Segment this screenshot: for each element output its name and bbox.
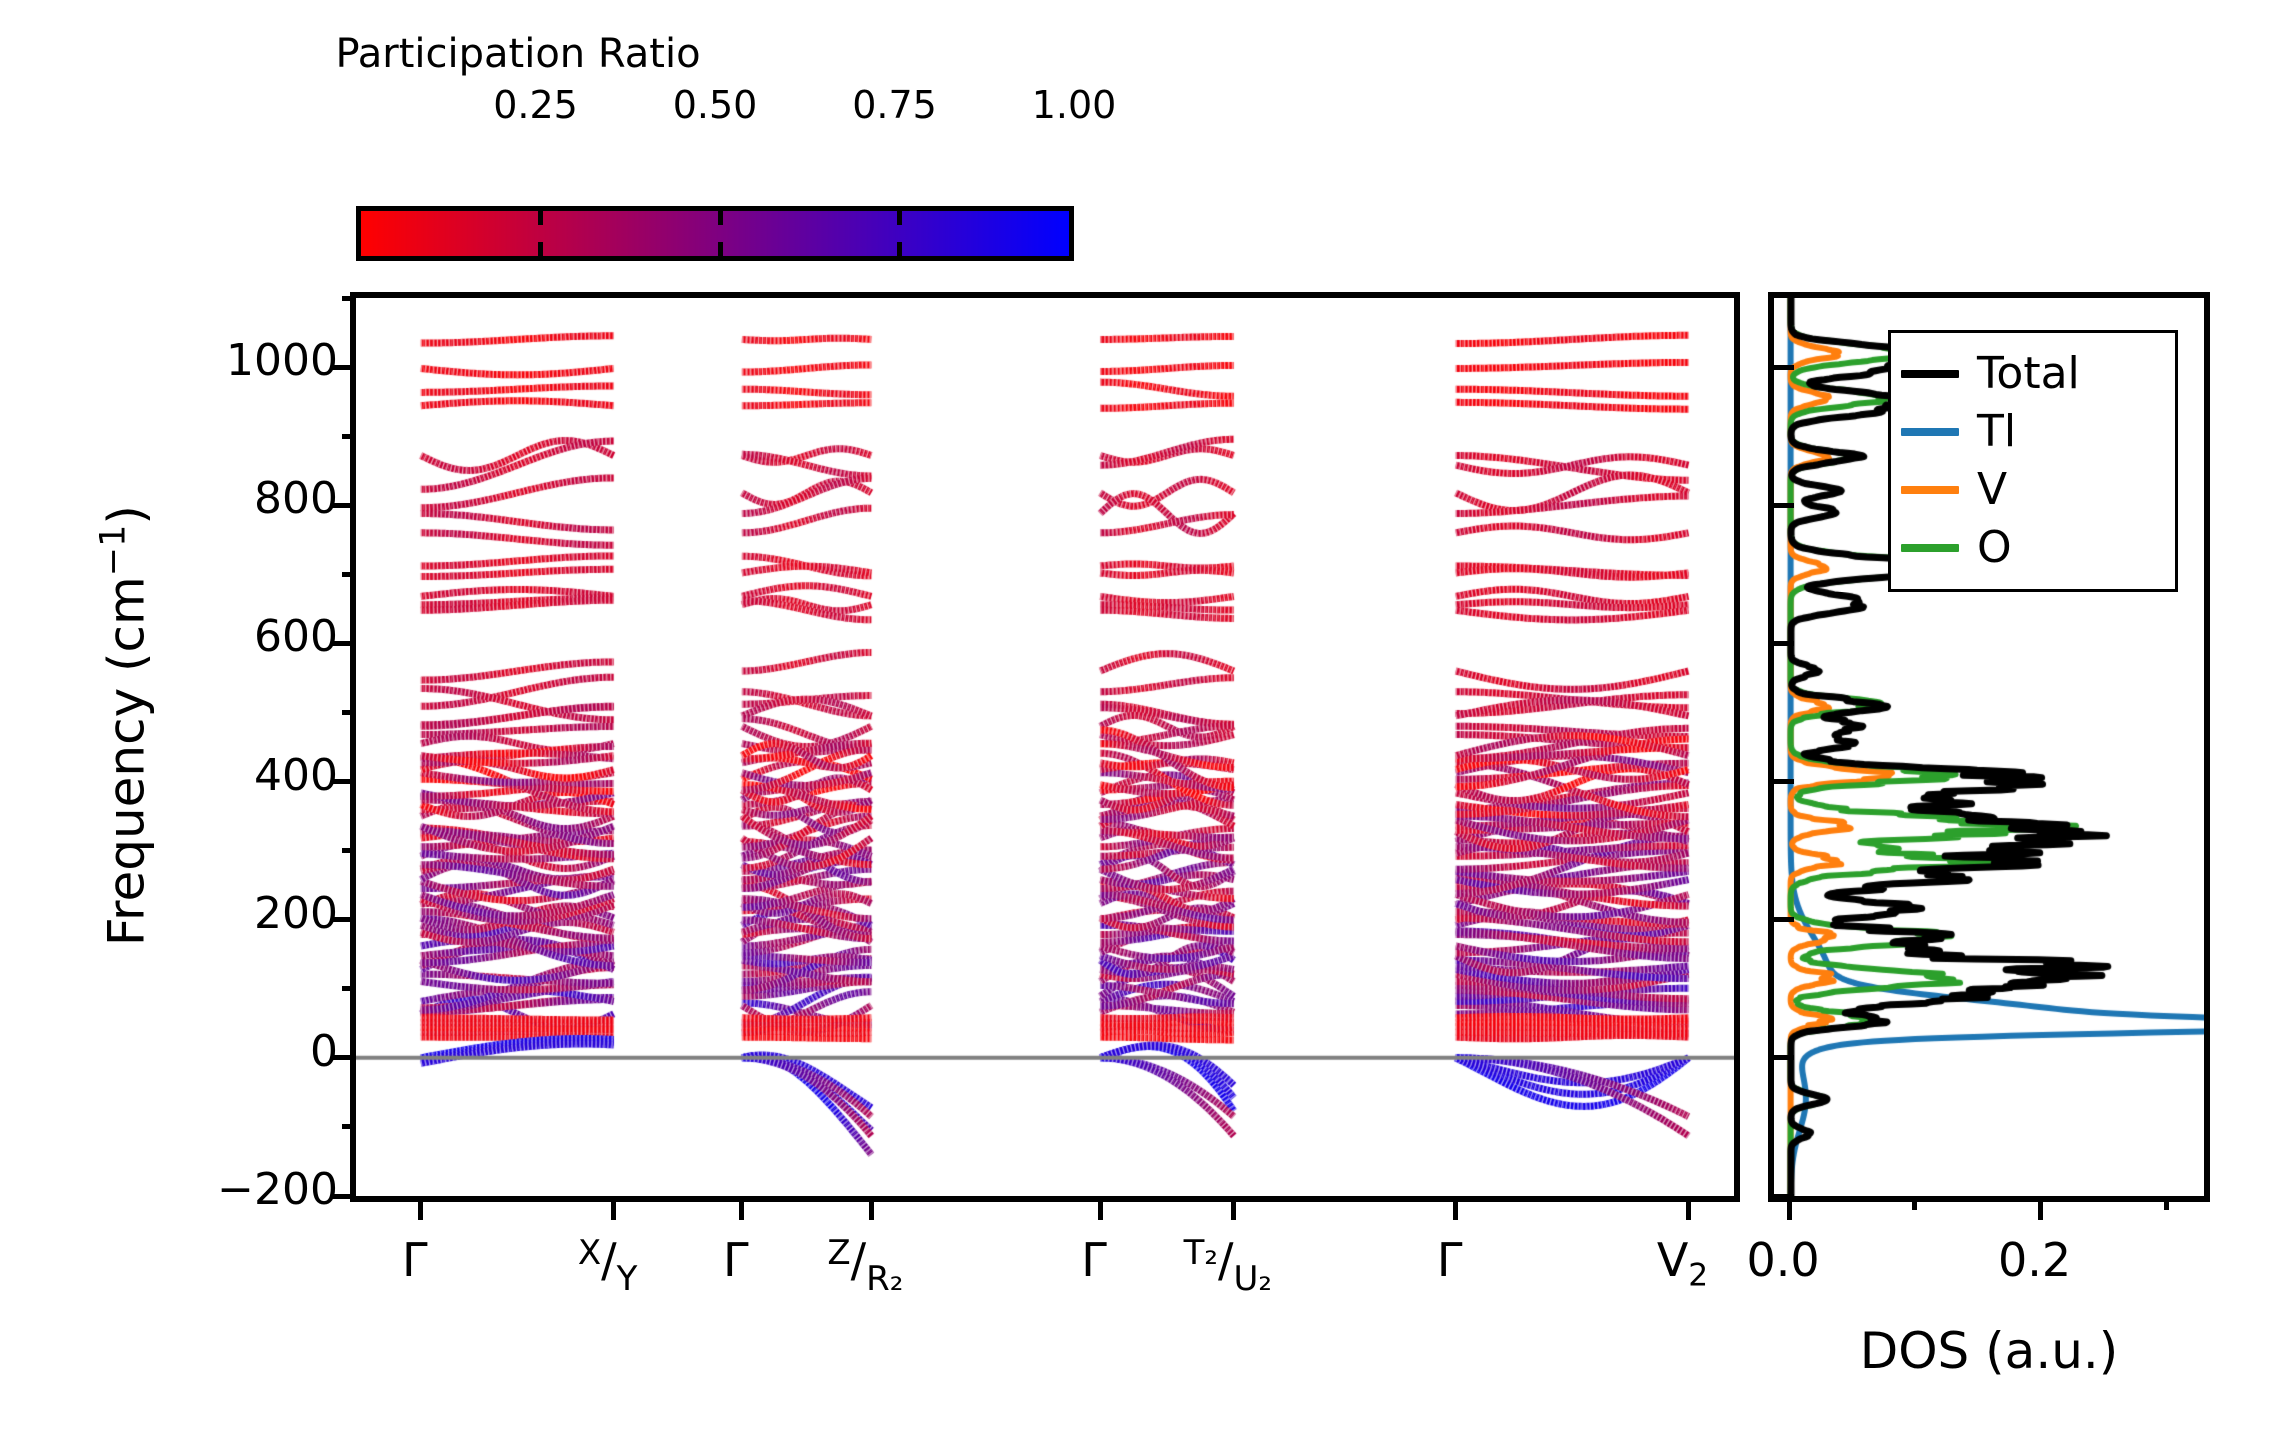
legend-entry: V [1901, 461, 2165, 519]
dos-frequency-tick [1774, 365, 1794, 370]
kpath-tick-label: Z/R₂ [827, 1232, 903, 1293]
legend-line-swatch [1901, 428, 1959, 436]
colorbar-tick-label: 1.00 [1032, 82, 1117, 128]
dos-axis-tick-labels: 0.00.2 [1768, 1232, 2210, 1302]
colorbar-tick [718, 211, 723, 225]
legend-entry: Total [1901, 345, 2165, 403]
legend-entry: O [1901, 519, 2165, 577]
dos-tick-label: 0.0 [1747, 1232, 1820, 1288]
kpath-tick-label: Γ [1081, 1232, 1107, 1288]
kpath-tick [869, 1196, 874, 1220]
frequency-tick-label: 0 [310, 1026, 338, 1078]
kpath-tick [1098, 1196, 1103, 1220]
frequency-minor-tick [342, 848, 356, 853]
kpath-tick-label: Γ [1437, 1232, 1463, 1288]
legend-entry: Tl [1901, 403, 2165, 461]
frequency-minor-tick [342, 572, 356, 577]
kpath-tick [611, 1196, 616, 1220]
frequency-unit-exponent: −1 [93, 525, 133, 577]
legend-line-swatch [1901, 370, 1959, 378]
frequency-tick-label: 400 [254, 750, 338, 802]
dos-legend: TotalTlVO [1888, 330, 2178, 592]
kpath-tick [418, 1196, 423, 1220]
kpath-tick-label: Γ [723, 1232, 749, 1288]
colorbar-title: Participation Ratio [258, 30, 778, 78]
frequency-axis-title: Frequency (cm−1) [84, 276, 155, 1176]
kpath-tick-label: Γ [402, 1232, 428, 1288]
frequency-axis-tick-labels: 10008006004002000−200 [0, 292, 338, 1202]
colorbar-tick-label: 0.25 [493, 82, 578, 128]
dos-tick-label: 0.2 [1998, 1232, 2071, 1288]
colorbar-tick-labels: 0.250.500.751.00 [258, 82, 778, 128]
dos-frequency-tick [1774, 641, 1794, 646]
colorbar-gradient [361, 211, 1069, 256]
colorbar-tick [538, 242, 543, 256]
legend-label: O [1977, 523, 2012, 573]
band-structure-plot [356, 298, 1734, 1196]
kpath-tick-label: T₂/U₂ [1184, 1232, 1272, 1293]
frequency-minor-tick [342, 434, 356, 439]
kpath-tick [1231, 1196, 1236, 1220]
legend-line-swatch [1901, 544, 1959, 552]
colorbar-tick [718, 242, 723, 256]
frequency-minor-tick [342, 710, 356, 715]
frequency-tick-label: 600 [254, 611, 338, 663]
kpath-tick-label: X/Y [578, 1232, 638, 1293]
kpath-tick [739, 1196, 744, 1220]
dos-frequency-tick [1774, 503, 1794, 508]
frequency-minor-tick [342, 1124, 356, 1129]
dos-frequency-tick [1774, 1055, 1794, 1060]
dos-minor-tick [1912, 1196, 1917, 1210]
frequency-tick-label: 800 [254, 473, 338, 525]
dos-axis-title: DOS (a.u.) [1768, 1322, 2210, 1380]
dos-frequency-tick [1774, 1194, 1794, 1199]
legend-label: Total [1977, 349, 2080, 399]
frequency-tick-label: −200 [217, 1164, 338, 1216]
kpath-tick [1453, 1196, 1458, 1220]
legend-line-swatch [1901, 486, 1959, 494]
colorbar-tick-label: 0.50 [673, 82, 758, 128]
dos-frequency-tick [1774, 779, 1794, 784]
colorbar-tick [897, 242, 902, 256]
colorbar-tick [897, 211, 902, 225]
band-structure-axes [350, 292, 1740, 1202]
frequency-tick-label: 200 [254, 888, 338, 940]
kpath-tick [1686, 1196, 1691, 1220]
dos-tick [1787, 1196, 1792, 1220]
frequency-minor-tick [342, 986, 356, 991]
figure-root: Participation Ratio 0.250.500.751.00 100… [0, 0, 2271, 1455]
dos-minor-tick [2164, 1196, 2169, 1210]
frequency-tick-label: 1000 [226, 335, 338, 387]
frequency-minor-tick [342, 296, 356, 301]
legend-label: V [1977, 465, 2007, 515]
kpath-tick-label: V2 [1657, 1232, 1708, 1303]
colorbar-tick-label: 0.75 [852, 82, 937, 128]
colorbar [356, 206, 1074, 261]
dos-frequency-tick [1774, 917, 1794, 922]
kpath-axis-tick-labels: ΓX/YΓZ/R₂ΓT₂/U₂ΓV2 [350, 1232, 1740, 1342]
colorbar-tick [538, 211, 543, 225]
dos-tick [2038, 1196, 2043, 1220]
legend-label: Tl [1977, 407, 2016, 457]
